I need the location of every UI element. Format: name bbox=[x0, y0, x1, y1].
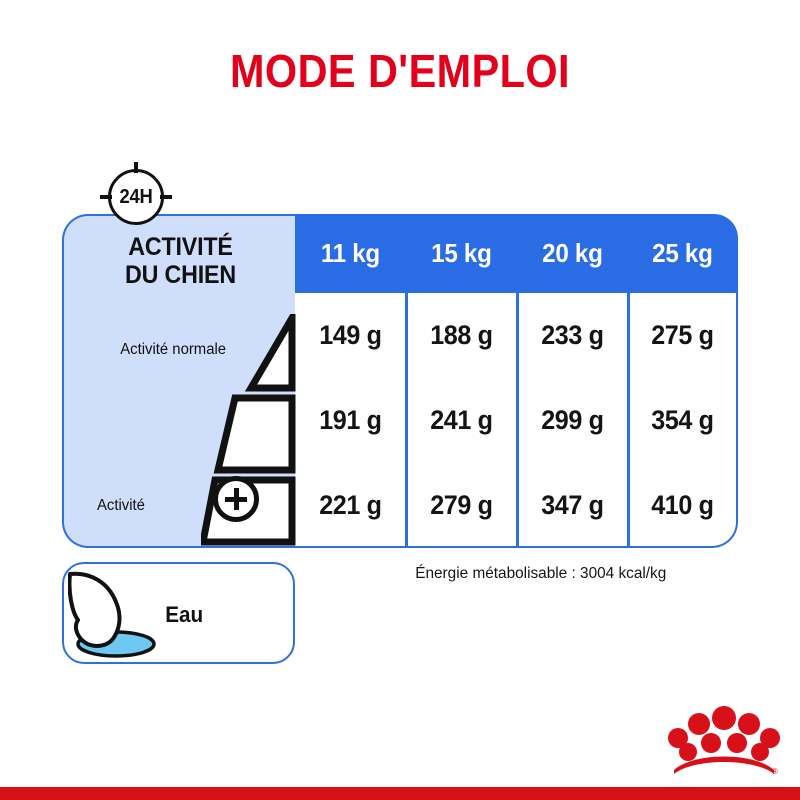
clock-24h-icon: 24H bbox=[100, 161, 172, 233]
table-cell-r0c1: 188 g bbox=[410, 293, 513, 378]
activity-title-line2: DU CHIEN bbox=[125, 261, 236, 289]
table-cell-r0c0: 149 g bbox=[299, 293, 402, 378]
table-cell-r1c0: 191 g bbox=[299, 378, 402, 463]
column-separator-2 bbox=[516, 293, 519, 546]
weight-column-0: 11 kg bbox=[299, 214, 402, 293]
table-cell-r2c1: 279 g bbox=[410, 463, 513, 548]
clock-label: 24H bbox=[103, 161, 169, 233]
dog-drinking-water-icon bbox=[68, 568, 178, 667]
activity-stairs-icon bbox=[201, 314, 297, 546]
table-cell-r2c3: 410 g bbox=[631, 463, 734, 548]
table-cell-r0c2: 233 g bbox=[520, 293, 623, 378]
plus-circle-icon bbox=[213, 476, 259, 522]
table-cell-r1c3: 354 g bbox=[631, 378, 734, 463]
svg-text:®: ® bbox=[772, 767, 778, 776]
royal-canin-crown-logo: ® bbox=[668, 700, 780, 781]
table-cell-r2c2: 347 g bbox=[520, 463, 623, 548]
table-cell-r0c3: 275 g bbox=[631, 293, 734, 378]
weight-column-2: 20 kg bbox=[520, 214, 623, 293]
bottom-red-bar bbox=[0, 787, 800, 800]
table-cell-r2c0: 221 g bbox=[299, 463, 402, 548]
column-separator-3 bbox=[627, 293, 630, 546]
weight-column-1: 15 kg bbox=[410, 214, 513, 293]
activity-panel: ACTIVITÉ DU CHIEN Activité normale Activ… bbox=[62, 214, 295, 548]
infographic-canvas: MODE D'EMPLOI 24H ACTIVITÉ DU CHIEN Acti… bbox=[0, 0, 800, 800]
table-cell-r1c1: 241 g bbox=[410, 378, 513, 463]
activity-panel-title: ACTIVITÉ DU CHIEN bbox=[72, 233, 289, 289]
weight-column-3: 25 kg bbox=[631, 214, 734, 293]
activity-label-plus: Activité bbox=[97, 497, 145, 515]
page-title: MODE D'EMPLOI bbox=[40, 44, 760, 98]
plus-vertical-bar bbox=[234, 488, 240, 510]
table-cell-r1c2: 299 g bbox=[520, 378, 623, 463]
energy-note: Énergie métabolisable : 3004 kcal/kg bbox=[415, 565, 666, 583]
water-box: Eau bbox=[62, 562, 295, 664]
activity-title-line1: ACTIVITÉ bbox=[128, 233, 232, 261]
weight-columns-header: 11 kg 15 kg 20 kg 25 kg bbox=[295, 214, 738, 293]
water-label: Eau bbox=[165, 602, 203, 628]
column-separator-1 bbox=[405, 293, 408, 546]
feeding-table: ACTIVITÉ DU CHIEN Activité normale Activ… bbox=[62, 214, 738, 548]
